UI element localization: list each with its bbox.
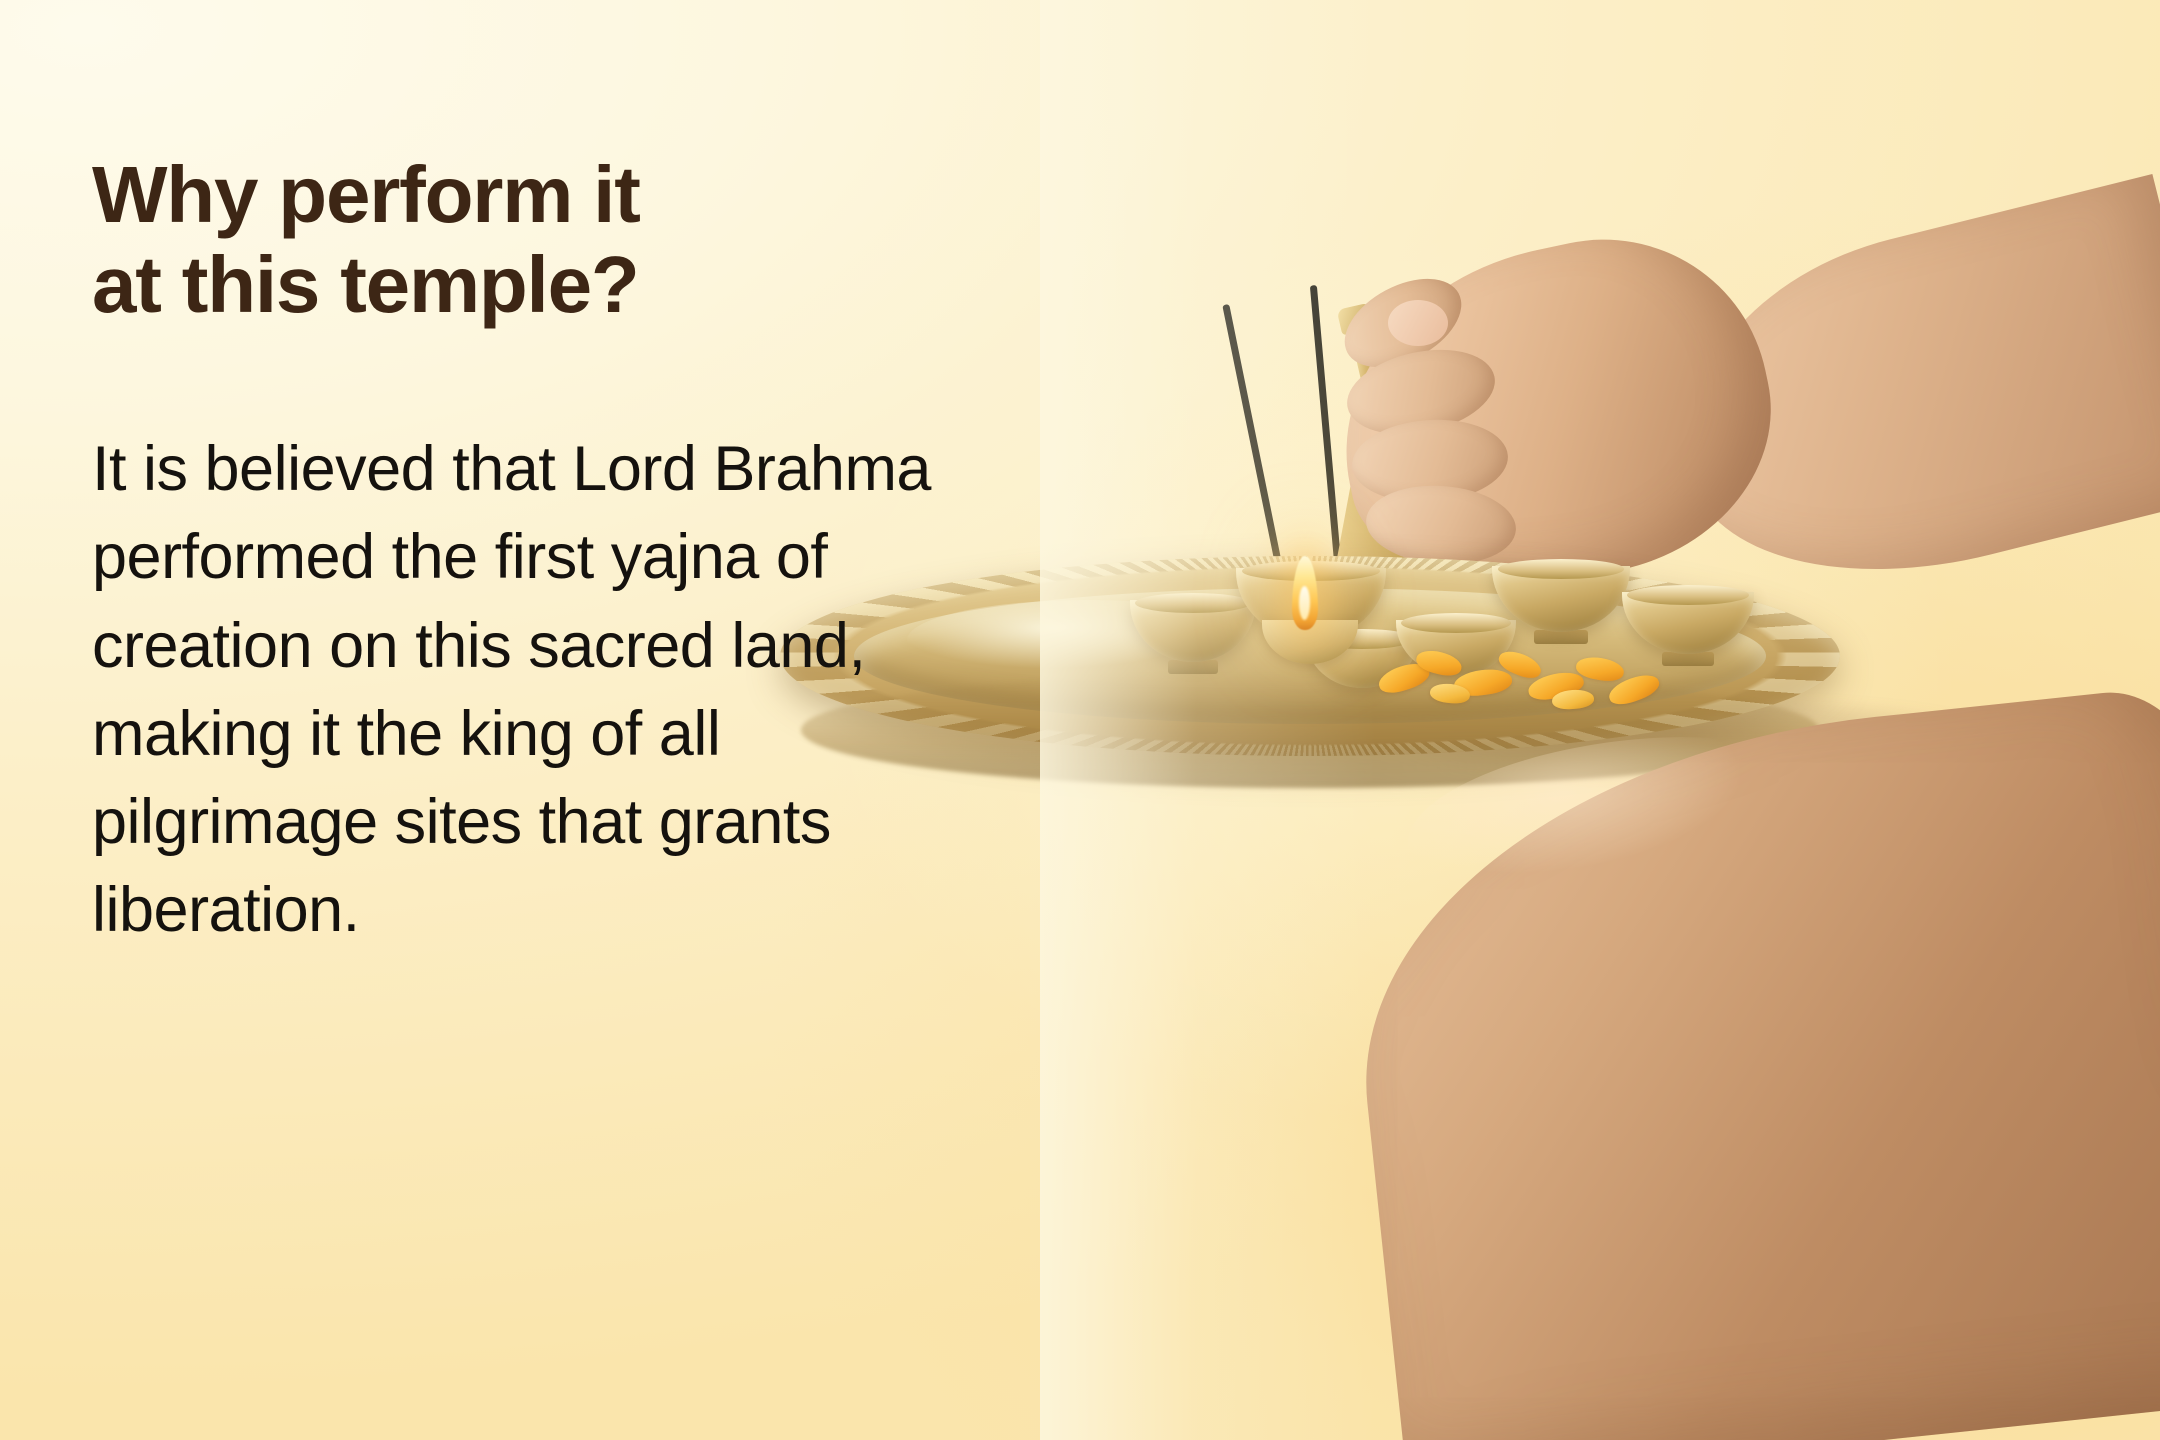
marigold-petals [1370,640,1670,718]
text-column: Why perform it at this temple? It is bel… [92,150,1072,954]
thumb [1388,300,1448,346]
puja-photo [1040,0,2160,1440]
diya-flame-core [1299,586,1310,620]
bowl-foot [1168,660,1218,674]
slide-canvas: Why perform it at this temple? It is bel… [0,0,2160,1440]
page-title: Why perform it at this temple? [92,150,1072,329]
body-paragraph: It is believed that Lord Brahma performe… [92,425,992,954]
